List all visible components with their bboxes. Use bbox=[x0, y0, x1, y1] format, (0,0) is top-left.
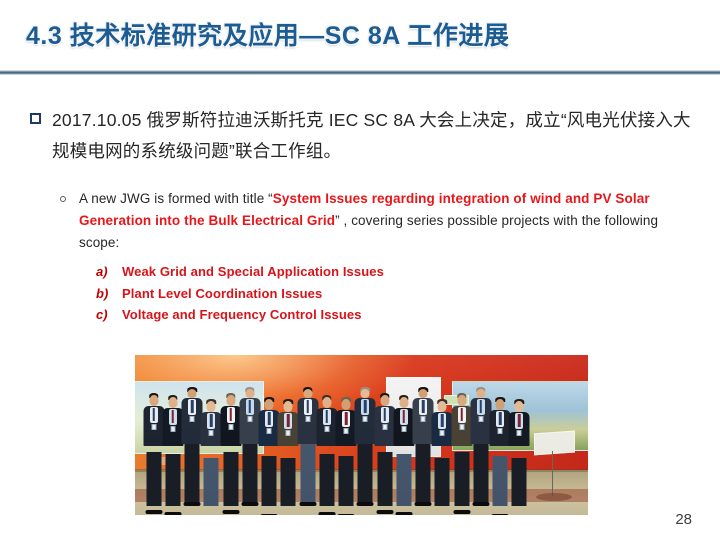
photo-person-shoes bbox=[164, 512, 181, 515]
photo-person-tie bbox=[518, 414, 521, 427]
photo-person bbox=[183, 387, 202, 502]
jwg-lead-text: A new JWG is formed with title “ bbox=[79, 191, 273, 206]
photo-person-shoes bbox=[453, 510, 470, 514]
photo-person-badge bbox=[151, 424, 156, 430]
list-item: c) Voltage and Frequency Control Issues bbox=[96, 307, 616, 329]
photo-person-tie bbox=[152, 408, 155, 421]
photo-person-legs bbox=[377, 452, 392, 506]
photo-person-tie bbox=[268, 412, 271, 425]
photo-person-head bbox=[265, 399, 274, 410]
photo-person-tie bbox=[191, 400, 194, 413]
photo-person-legs bbox=[416, 444, 431, 504]
list-item-marker: c) bbox=[96, 307, 122, 322]
photo-person-tie bbox=[441, 414, 444, 427]
photo-person-legs bbox=[454, 452, 469, 506]
photo-person-legs bbox=[435, 458, 450, 506]
photo-person-head bbox=[361, 389, 370, 398]
photo-person-badge bbox=[228, 424, 233, 430]
photo-person-badge bbox=[247, 416, 252, 422]
photo-person-badge bbox=[324, 426, 329, 432]
photo-person-tie bbox=[345, 412, 348, 425]
photo-person-badge bbox=[190, 416, 195, 422]
photo-person bbox=[317, 387, 336, 502]
photo-person-legs bbox=[473, 444, 488, 504]
photo-person bbox=[433, 387, 452, 502]
page-title: 4.3 技术标准研究及应用—SC 8A 工作进展 bbox=[26, 16, 509, 52]
photo-person-badge bbox=[344, 428, 349, 434]
page-number: 28 bbox=[675, 511, 692, 528]
photo-podium-stem bbox=[552, 451, 553, 496]
scope-list: a) Weak Grid and Special Application Iss… bbox=[96, 264, 616, 329]
photo-person-legs bbox=[165, 454, 180, 506]
photo-person-shoes bbox=[338, 514, 355, 515]
photo-podium-base bbox=[536, 493, 572, 501]
photo-person-shoes bbox=[395, 512, 412, 515]
photo-person-head bbox=[438, 401, 447, 412]
photo-person-badge bbox=[267, 428, 272, 434]
list-item-marker: a) bbox=[96, 264, 122, 279]
photo-person-tie bbox=[422, 400, 425, 413]
photo-person-badge bbox=[382, 424, 387, 430]
photo-person-tie bbox=[210, 414, 213, 427]
photo-person-tie bbox=[249, 400, 252, 413]
photo-person-head bbox=[284, 401, 293, 412]
photo-person bbox=[144, 387, 163, 502]
list-item-label: Plant Level Coordination Issues bbox=[122, 286, 322, 301]
photo-person-tie bbox=[460, 408, 463, 421]
photo-person-legs bbox=[185, 444, 200, 504]
photo-person-legs bbox=[223, 452, 238, 506]
photo-person-head bbox=[457, 395, 466, 406]
photo-person-legs bbox=[204, 458, 219, 506]
photo-person-badge bbox=[286, 430, 291, 436]
photo-person-shoes bbox=[318, 512, 335, 515]
photo-person-shoes bbox=[261, 514, 278, 515]
photo-person-tie bbox=[287, 414, 290, 427]
photo-person-head bbox=[419, 389, 428, 398]
photo-person-tie bbox=[326, 410, 329, 423]
presentation-slide: 4.3 技术标准研究及应用—SC 8A 工作进展 2017.10.05 俄罗斯符… bbox=[0, 0, 720, 540]
bullet-level2-text: A new JWG is formed with title “System I… bbox=[79, 188, 700, 254]
bullet-level1-text: 2017.10.05 俄罗斯符拉迪沃斯托克 IEC SC 8A 大会上决定，成立… bbox=[52, 105, 695, 166]
photo-person-badge bbox=[363, 416, 368, 422]
photo-person-badge bbox=[440, 430, 445, 436]
photo-person bbox=[221, 387, 240, 502]
photo-person bbox=[375, 387, 394, 502]
photo-person-head bbox=[303, 389, 312, 398]
photo-person-badge bbox=[498, 428, 503, 434]
photo-person-legs bbox=[358, 444, 373, 504]
photo-person-head bbox=[245, 389, 254, 398]
bullet-level2: A new JWG is formed with title “System I… bbox=[60, 188, 700, 254]
list-item: b) Plant Level Coordination Issues bbox=[96, 286, 616, 308]
photo-person bbox=[279, 387, 298, 502]
bullet-level1: 2017.10.05 俄罗斯符拉迪沃斯托克 IEC SC 8A 大会上决定，成立… bbox=[30, 105, 695, 166]
photo-person-head bbox=[226, 395, 235, 406]
photo-person-legs bbox=[396, 454, 411, 506]
photo-podium bbox=[534, 430, 575, 455]
photo-person bbox=[356, 387, 375, 502]
photo-person-badge bbox=[459, 424, 464, 430]
photo-person-legs bbox=[262, 456, 277, 506]
photo-person-badge bbox=[478, 416, 483, 422]
photo-person-shoes bbox=[299, 502, 316, 506]
group-photo bbox=[135, 355, 588, 515]
photo-person bbox=[414, 387, 433, 502]
photo-person-head bbox=[399, 397, 408, 408]
photo-person-head bbox=[322, 397, 331, 408]
photo-person-badge bbox=[170, 426, 175, 432]
photo-person bbox=[471, 387, 490, 502]
photo-person-tie bbox=[306, 400, 309, 413]
photo-person bbox=[260, 387, 279, 502]
photo-person-tie bbox=[229, 408, 232, 421]
photo-person-head bbox=[342, 399, 351, 410]
title-divider bbox=[0, 70, 720, 75]
photo-person bbox=[240, 387, 259, 502]
list-item-marker: b) bbox=[96, 286, 122, 301]
photo-person-tie bbox=[499, 412, 502, 425]
photo-person-badge bbox=[401, 426, 406, 432]
photo-person-head bbox=[168, 397, 177, 408]
photo-person bbox=[452, 387, 471, 502]
photo-person-badge bbox=[209, 430, 214, 436]
photo-person-head bbox=[149, 395, 158, 406]
photo-person bbox=[202, 387, 221, 502]
photo-person-tie bbox=[480, 400, 483, 413]
list-item: a) Weak Grid and Special Application Iss… bbox=[96, 264, 616, 286]
photo-person bbox=[394, 387, 413, 502]
photo-person-tie bbox=[172, 410, 175, 423]
photo-person-shoes bbox=[357, 502, 374, 506]
photo-person-shoes bbox=[415, 502, 432, 506]
photo-person-shoes bbox=[222, 510, 239, 514]
photo-person bbox=[163, 387, 182, 502]
photo-person-head bbox=[496, 399, 505, 410]
photo-person-shoes bbox=[472, 502, 489, 506]
photo-person-legs bbox=[339, 456, 354, 506]
photo-person-head bbox=[515, 401, 524, 412]
photo-person bbox=[491, 387, 510, 502]
photo-person-legs bbox=[281, 458, 296, 506]
photo-person-shoes bbox=[492, 514, 509, 515]
circle-bullet-icon bbox=[60, 196, 66, 202]
photo-person-head bbox=[380, 395, 389, 406]
photo-person-head bbox=[188, 389, 197, 398]
photo-person-legs bbox=[319, 454, 334, 506]
photo-person-legs bbox=[300, 444, 315, 504]
photo-person-shoes bbox=[184, 502, 201, 506]
photo-person-head bbox=[207, 401, 216, 412]
square-bullet-icon bbox=[30, 113, 41, 124]
photo-person-tie bbox=[364, 400, 367, 413]
photo-person bbox=[298, 387, 317, 502]
photo-person-legs bbox=[512, 458, 527, 506]
photo-person-shoes bbox=[241, 502, 258, 506]
photo-person-badge bbox=[421, 416, 426, 422]
photo-person bbox=[337, 387, 356, 502]
photo-person bbox=[510, 387, 529, 502]
slide-header: 4.3 技术标准研究及应用—SC 8A 工作进展 bbox=[0, 16, 720, 62]
photo-person-badge bbox=[517, 430, 522, 436]
photo-people-group bbox=[144, 387, 529, 502]
list-item-label: Voltage and Frequency Control Issues bbox=[122, 307, 362, 322]
photo-person-legs bbox=[242, 444, 257, 504]
photo-person-head bbox=[476, 389, 485, 398]
photo-person-shoes bbox=[145, 510, 162, 514]
photo-person-legs bbox=[493, 456, 508, 506]
photo-person-shoes bbox=[376, 510, 393, 514]
photo-person-legs bbox=[146, 452, 161, 506]
list-item-label: Weak Grid and Special Application Issues bbox=[122, 264, 384, 279]
photo-person-tie bbox=[403, 410, 406, 423]
photo-person-badge bbox=[305, 416, 310, 422]
photo-person-tie bbox=[383, 408, 386, 421]
